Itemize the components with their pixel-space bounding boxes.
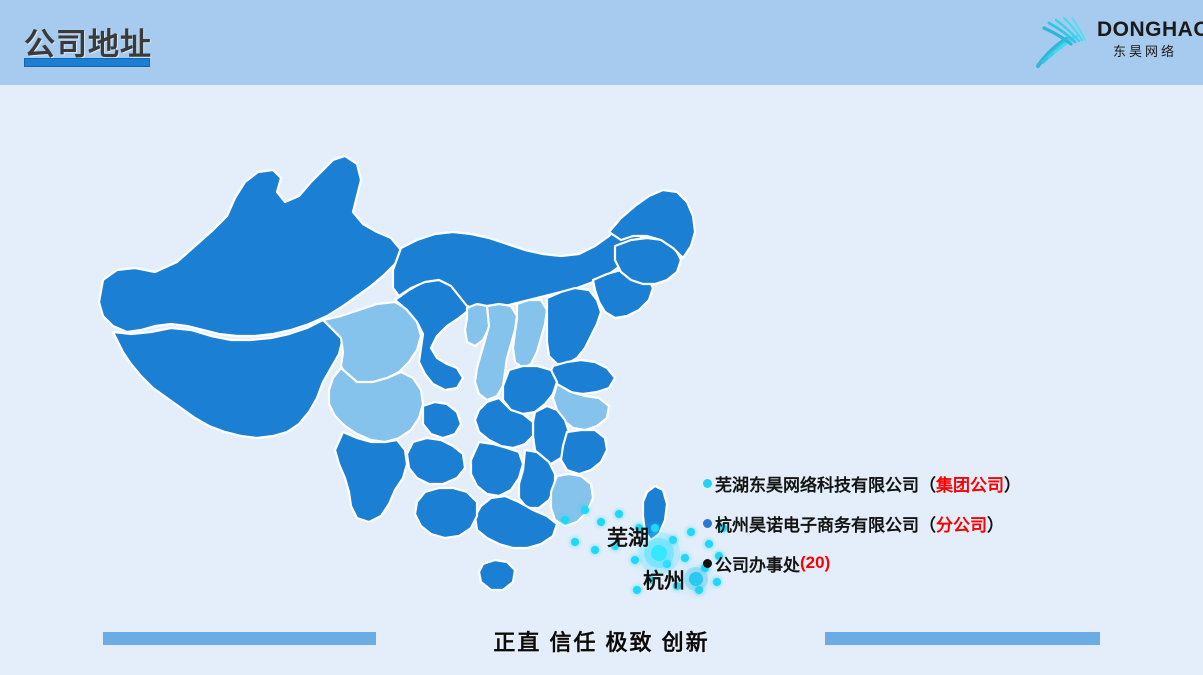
province-shanxi (513, 300, 547, 368)
office-dot (571, 538, 579, 546)
office-dot (631, 556, 639, 564)
legend: 芜湖东昊网络科技有限公司 （ 集团公司 ） 杭州昊诺电子商务有限公司 （ 分公司… (703, 463, 1123, 583)
legend-label: 杭州昊诺电子商务有限公司 (715, 511, 919, 536)
logo-name: DONGHAO (1097, 18, 1193, 42)
province-hunan (471, 442, 523, 496)
province-xinjiang (99, 156, 401, 336)
legend-tag: 分公司 (936, 511, 987, 536)
legend-open-paren: （ (919, 471, 936, 496)
city-label-hangzhou: 杭州 (643, 565, 685, 595)
city-label-wuhu: 芜湖 (607, 522, 649, 552)
legend-label: 芜湖东昊网络科技有限公司 (715, 471, 919, 496)
province-hebei (547, 288, 601, 364)
office-dot (651, 524, 659, 532)
province-guangxi (415, 488, 477, 538)
footer-bar-right (825, 632, 1100, 645)
province-chongqing (423, 402, 461, 438)
province-tibet (113, 320, 343, 438)
office-dot (581, 506, 589, 514)
logo-subname: 东昊网络 (1097, 43, 1193, 61)
office-dot (597, 518, 605, 526)
province-yunnan (335, 432, 407, 522)
office-dot (687, 528, 695, 536)
wuhu-marker[interactable] (651, 545, 667, 561)
legend-bullet-icon (703, 559, 712, 568)
legend-close-paren: ） (1004, 471, 1021, 496)
province-zhejiang (561, 430, 607, 474)
hangzhou-marker[interactable] (689, 572, 703, 586)
legend-item-offices: 公司办事处 (20) (703, 543, 1123, 583)
legend-label: 公司办事处 (715, 551, 800, 576)
office-dot (695, 586, 703, 594)
office-dot (591, 546, 599, 554)
office-dot (669, 536, 677, 544)
company-logo: DONGHAO 东昊网络 (1025, 8, 1195, 74)
legend-tag: (20) (800, 553, 830, 573)
header-band (0, 0, 1203, 85)
office-dot (633, 586, 641, 594)
legend-close-paren: ） (987, 511, 1004, 536)
china-map: 芜湖 杭州 (95, 120, 735, 620)
legend-bullet-icon (703, 479, 712, 488)
legend-item-group-company: 芜湖东昊网络科技有限公司 （ 集团公司 ） (703, 463, 1123, 503)
province-guizhou (407, 438, 465, 484)
legend-item-branch-company: 杭州昊诺电子商务有限公司 （ 分公司 ） (703, 503, 1123, 543)
slide-canvas: 公司地址 DONGHAO 东昊网络 (0, 0, 1203, 675)
title-underline-accent (24, 58, 150, 67)
office-dot (615, 510, 623, 518)
office-dot (681, 554, 689, 562)
donghao-wing-logo-icon (1031, 10, 1093, 72)
province-hainan (479, 560, 515, 590)
province-fujian (551, 474, 593, 526)
legend-tag: 集团公司 (936, 471, 1004, 496)
logo-text-block: DONGHAO 东昊网络 (1097, 18, 1193, 61)
legend-open-paren: （ (919, 511, 936, 536)
office-dot (561, 516, 569, 524)
legend-bullet-icon (703, 519, 712, 528)
